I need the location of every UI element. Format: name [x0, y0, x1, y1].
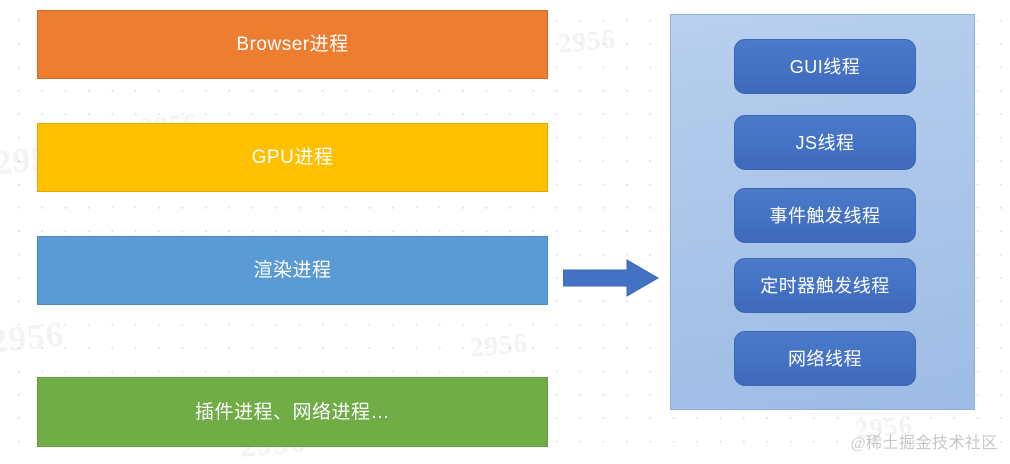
process-box-render: 渲染进程 — [37, 236, 548, 305]
process-label: 插件进程、网络进程… — [195, 403, 390, 422]
process-box-gpu: GPU进程 — [37, 123, 548, 192]
thread-label: 定时器触发线程 — [760, 277, 890, 295]
thread-container: GUI线程 JS线程 事件触发线程 定时器触发线程 网络线程 — [670, 14, 975, 410]
thread-label: 网络线程 — [788, 350, 862, 368]
background-watermark: 2956 — [469, 328, 529, 364]
process-label: Browser进程 — [236, 35, 348, 54]
arrow-right-icon — [563, 258, 659, 298]
background-watermark: 2956 — [0, 314, 66, 362]
thread-box-network: 网络线程 — [734, 331, 916, 386]
diagram-canvas: 2956 2956 2956 2956 2956 2956 2956 2956 … — [0, 0, 1010, 464]
process-label: 渲染进程 — [253, 261, 331, 280]
thread-label: JS线程 — [795, 134, 854, 152]
process-box-browser: Browser进程 — [37, 10, 548, 79]
thread-box-gui: GUI线程 — [734, 39, 916, 94]
process-box-plugin-network: 插件进程、网络进程… — [37, 377, 548, 447]
corner-watermark: @稀土掘金技术社区 — [851, 429, 998, 453]
thread-label: GUI线程 — [790, 58, 861, 76]
thread-box-event-trigger: 事件触发线程 — [734, 188, 916, 243]
background-watermark: 2956 — [557, 24, 617, 60]
thread-label: 事件触发线程 — [770, 207, 881, 225]
thread-box-timer-trigger: 定时器触发线程 — [734, 258, 916, 313]
thread-box-js: JS线程 — [734, 115, 916, 170]
process-label: GPU进程 — [252, 148, 334, 167]
